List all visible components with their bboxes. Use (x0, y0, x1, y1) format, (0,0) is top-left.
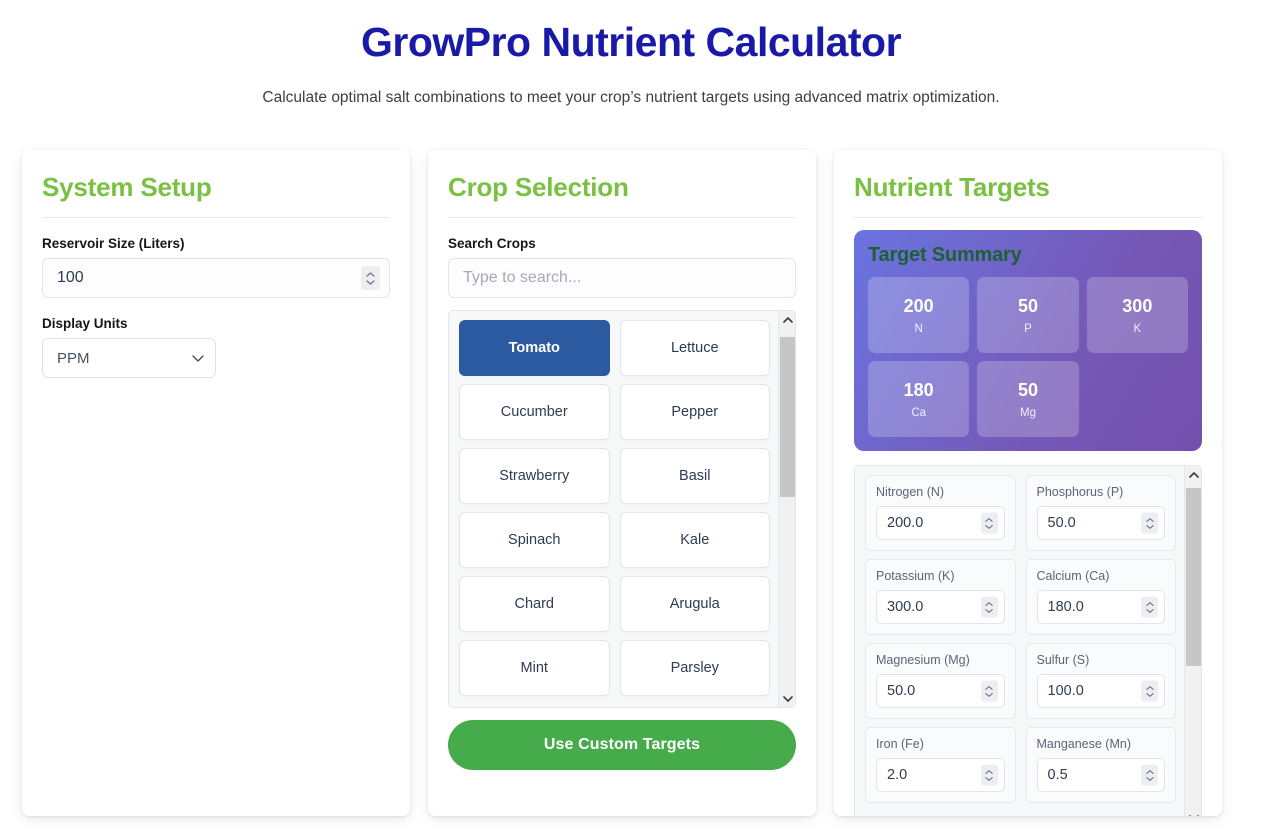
nutrient-value-stepper[interactable] (1141, 681, 1158, 702)
nutrient-field-label: Calcium (Ca) (1037, 569, 1166, 583)
use-custom-targets-button[interactable]: Use Custom Targets (448, 720, 796, 770)
crop-option-label: Kale (680, 532, 709, 548)
nutrient-fields-grid: Nitrogen (N)Phosphorus (P)Potassium (K)C… (855, 466, 1186, 812)
nutrient-field: Magnesium (Mg) (865, 643, 1016, 719)
reservoir-size-label: Reservoir Size (Liters) (42, 236, 390, 251)
nutrient-field: Nitrogen (N) (865, 475, 1016, 551)
crop-option[interactable]: Strawberry (459, 448, 610, 504)
chevron-up-icon (985, 517, 993, 522)
crop-option[interactable]: Basil (620, 448, 771, 504)
nutrient-input-wrap (1037, 590, 1166, 624)
scroll-down-arrow-icon[interactable] (779, 690, 796, 707)
nutrient-input-wrap (876, 590, 1005, 624)
crop-option[interactable]: Arugula (620, 576, 771, 632)
nutrient-value-stepper[interactable] (1141, 513, 1158, 534)
crop-selection-panel: Crop Selection Search Crops TomatoLettuc… (428, 150, 816, 816)
nutrient-field-label: Sulfur (S) (1037, 653, 1166, 667)
crop-option[interactable]: Parsley (620, 640, 771, 696)
chevron-up-icon (1146, 517, 1154, 522)
crop-option[interactable]: Cucumber (459, 384, 610, 440)
scroll-up-arrow-icon[interactable] (1185, 466, 1202, 483)
crop-option-label: Pepper (671, 404, 718, 420)
crop-option[interactable]: Chard (459, 576, 610, 632)
crop-list: TomatoLettuceCucumberPepperStrawberryBas… (448, 310, 796, 708)
target-summary-tile: 200N (868, 277, 969, 353)
nutrient-field: Iron (Fe) (865, 727, 1016, 803)
nutrient-value-stepper[interactable] (1141, 597, 1158, 618)
target-summary-value: 180 (904, 380, 934, 401)
target-summary-title: Target Summary (868, 244, 1188, 267)
target-summary-grid: 200N50P300K180Ca50Mg (868, 277, 1188, 437)
target-summary-symbol: Mg (1020, 407, 1036, 419)
nutrient-input-wrap (876, 506, 1005, 540)
nutrient-value-stepper[interactable] (981, 765, 998, 786)
page-title: GrowPro Nutrient Calculator (0, 10, 1262, 67)
nutrient-field-label: Nitrogen (N) (876, 485, 1005, 499)
crop-option[interactable]: Spinach (459, 512, 610, 568)
search-crops-field (448, 258, 796, 298)
chevron-down-icon (366, 280, 375, 285)
crop-selection-title: Crop Selection (448, 172, 796, 203)
chevron-down-icon (985, 776, 993, 781)
nutrient-field: Calcium (Ca) (1026, 559, 1177, 635)
scroll-thumb[interactable] (1186, 488, 1201, 666)
nutrient-targets-title: Nutrient Targets (854, 172, 1202, 203)
target-summary-tile: 50Mg (977, 361, 1078, 437)
nutrient-targets-panel: Nutrient Targets Target Summary 200N50P3… (834, 150, 1222, 816)
crop-option-label: Chard (515, 596, 555, 612)
chevron-up-icon (1146, 601, 1154, 606)
nutrient-input-wrap (1037, 758, 1166, 792)
scroll-up-arrow-icon[interactable] (779, 311, 796, 328)
nutrient-list-scrollbar[interactable] (1184, 466, 1201, 816)
crop-option-label: Parsley (671, 660, 719, 676)
nutrient-input-wrap (1037, 674, 1166, 708)
display-units-select[interactable]: PPM (42, 338, 216, 378)
crop-option-label: Basil (679, 468, 710, 484)
nutrient-field-label: Iron (Fe) (876, 737, 1005, 751)
page-subtitle: Calculate optimal salt combinations to m… (0, 89, 1262, 107)
target-summary-tile: 300K (1087, 277, 1188, 353)
nutrient-field-label: Magnesium (Mg) (876, 653, 1005, 667)
chevron-down-icon (985, 692, 993, 697)
target-summary-value: 50 (1018, 380, 1038, 401)
reservoir-size-field (42, 258, 390, 298)
chevron-up-icon (1146, 685, 1154, 690)
app-root: GrowPro Nutrient Calculator Calculate op… (0, 10, 1262, 839)
crop-option-label: Arugula (670, 596, 720, 612)
scroll-down-arrow-icon[interactable] (1185, 809, 1202, 816)
target-summary-symbol: N (915, 323, 923, 335)
divider (854, 217, 1202, 218)
nutrient-field: Sulfur (S) (1026, 643, 1177, 719)
crop-grid: TomatoLettuceCucumberPepperStrawberryBas… (449, 311, 780, 705)
crop-option[interactable]: Lettuce (620, 320, 771, 376)
search-crops-label: Search Crops (448, 236, 796, 251)
nutrient-input-wrap (1037, 506, 1166, 540)
target-summary-card: Target Summary 200N50P300K180Ca50Mg (854, 230, 1202, 451)
nutrient-field-label: Phosphorus (P) (1037, 485, 1166, 499)
crop-option[interactable]: Kale (620, 512, 771, 568)
chevron-up-icon (1146, 769, 1154, 774)
chevron-down-icon (1146, 524, 1154, 529)
scroll-thumb[interactable] (780, 337, 795, 497)
nutrient-value-stepper[interactable] (981, 513, 998, 534)
nutrient-field: Potassium (K) (865, 559, 1016, 635)
target-summary-symbol: K (1133, 323, 1141, 335)
target-summary-value: 300 (1122, 296, 1152, 317)
nutrient-value-stepper[interactable] (1141, 765, 1158, 786)
crop-option[interactable]: Tomato (459, 320, 610, 376)
target-summary-symbol: Ca (911, 407, 926, 419)
crop-option-label: Mint (521, 660, 548, 676)
nutrient-fields-list: Nitrogen (N)Phosphorus (P)Potassium (K)C… (854, 465, 1202, 816)
chevron-down-icon (1146, 776, 1154, 781)
nutrient-field: Phosphorus (P) (1026, 475, 1177, 551)
display-units-label: Display Units (42, 316, 390, 331)
nutrient-value-stepper[interactable] (981, 597, 998, 618)
system-setup-panel: System Setup Reservoir Size (Liters) Dis… (22, 150, 410, 816)
chevron-down-icon (1146, 692, 1154, 697)
chevron-up-icon (985, 769, 993, 774)
crop-option-label: Lettuce (671, 340, 719, 356)
crop-option-label: Cucumber (501, 404, 568, 420)
chevron-up-icon (985, 601, 993, 606)
nutrient-field: Manganese (Mn) (1026, 727, 1177, 803)
target-summary-tile: 50P (977, 277, 1078, 353)
crop-option-label: Strawberry (499, 468, 569, 484)
chevron-down-icon (985, 524, 993, 529)
display-units-field: PPM (42, 338, 216, 378)
target-summary-symbol: P (1024, 323, 1032, 335)
chevron-up-icon (366, 272, 375, 277)
crop-option[interactable]: Mint (459, 640, 610, 696)
nutrient-value-stepper[interactable] (981, 681, 998, 702)
reservoir-size-input[interactable] (42, 258, 390, 298)
divider (42, 217, 390, 218)
divider (448, 217, 796, 218)
reservoir-size-stepper[interactable] (361, 266, 380, 290)
crop-option-label: Spinach (508, 532, 560, 548)
nutrient-input-wrap (876, 758, 1005, 792)
nutrient-field-label: Manganese (Mn) (1037, 737, 1166, 751)
search-crops-input[interactable] (448, 258, 796, 298)
display-units-value: PPM (57, 350, 90, 367)
target-summary-tile: 180Ca (868, 361, 969, 437)
chevron-down-icon (1146, 608, 1154, 613)
target-summary-value: 200 (904, 296, 934, 317)
nutrient-input-wrap (876, 674, 1005, 708)
panel-columns: System Setup Reservoir Size (Liters) Dis… (0, 150, 1262, 816)
chevron-down-icon (985, 608, 993, 613)
crop-list-scrollbar[interactable] (778, 311, 795, 707)
crop-option[interactable]: Pepper (620, 384, 771, 440)
chevron-up-icon (985, 685, 993, 690)
crop-option-label: Tomato (509, 340, 560, 356)
target-summary-value: 50 (1018, 296, 1038, 317)
system-setup-title: System Setup (42, 172, 390, 203)
nutrient-field-label: Potassium (K) (876, 569, 1005, 583)
